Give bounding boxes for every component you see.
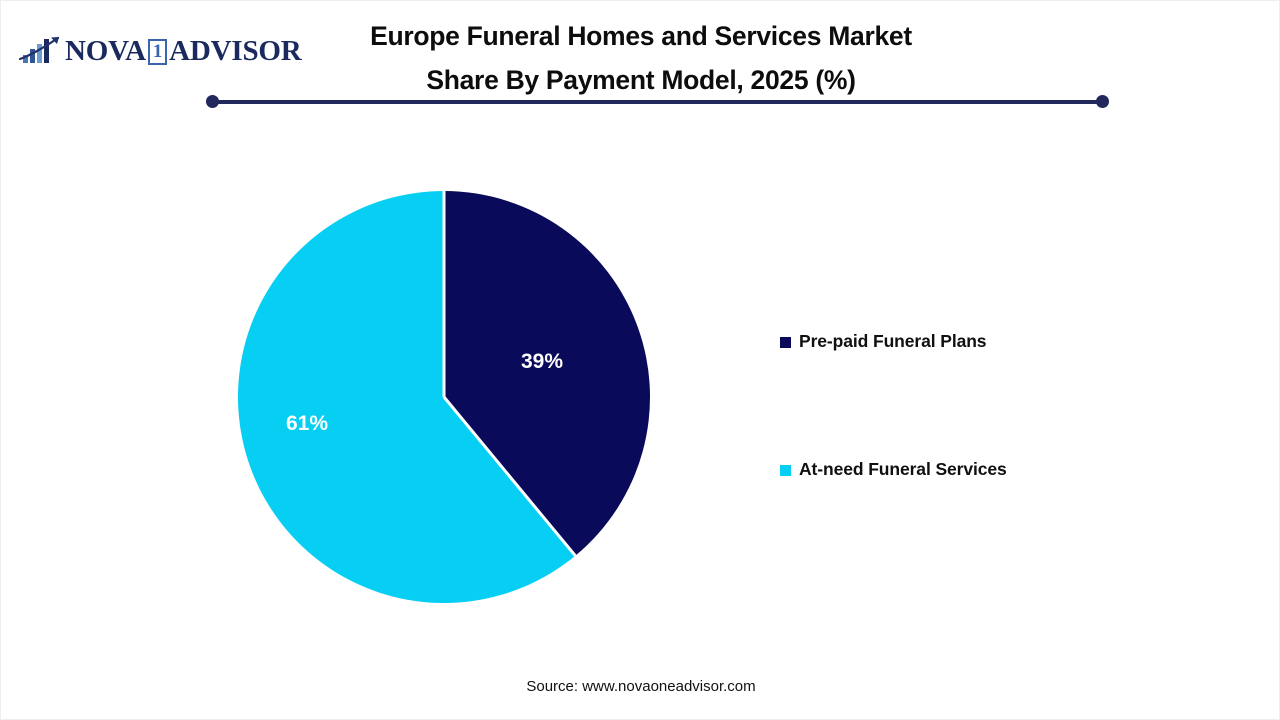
legend-item-prepaid-funeral-plans[interactable]: Pre-paid Funeral Plans	[780, 327, 1110, 355]
pie-slice-label-prepaid: 39%	[521, 350, 563, 374]
page-title-line-1: Europe Funeral Homes and Services Market	[331, 14, 951, 58]
legend-swatch-atneed	[780, 465, 791, 476]
chart-legend: Pre-paid Funeral Plans At-need Funeral S…	[780, 327, 1110, 483]
legend-swatch-prepaid	[780, 337, 791, 348]
pie-chart: 39% 61%	[238, 191, 650, 603]
brand-logo[interactable]: NOVA 1 ADVISOR	[19, 34, 302, 68]
bar-chart-swoosh-icon	[19, 36, 63, 66]
pie-chart-svg	[238, 191, 650, 603]
chart-canvas: NOVA 1 ADVISOR Europe Funeral Homes and …	[0, 0, 1280, 720]
brand-text-before: NOVA	[65, 35, 146, 68]
legend-item-at-need-funeral-services[interactable]: At-need Funeral Services	[780, 455, 1110, 483]
legend-label-atneed: At-need Funeral Services	[799, 459, 1007, 480]
brand-badge-one: 1	[148, 39, 167, 65]
pie-slice-label-atneed: 61%	[286, 412, 328, 436]
brand-text-after: ADVISOR	[169, 35, 301, 68]
divider-bar	[212, 100, 1103, 104]
legend-label-prepaid: Pre-paid Funeral Plans	[799, 331, 986, 352]
brand-wordmark: NOVA 1 ADVISOR	[65, 35, 302, 68]
page-title: Europe Funeral Homes and Services Market…	[331, 14, 951, 102]
title-divider	[206, 95, 1109, 109]
divider-dot-right	[1096, 95, 1109, 108]
source-note: Source: www.novaoneadvisor.com	[1, 678, 1280, 695]
